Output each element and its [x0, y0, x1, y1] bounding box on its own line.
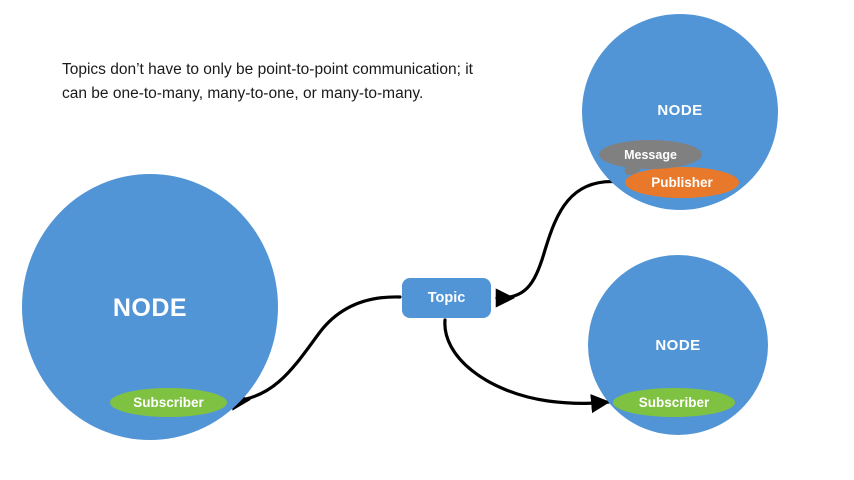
node-left-label: NODE — [22, 294, 278, 323]
slide-canvas: Topics don’t have to only be point-to-po… — [0, 0, 854, 480]
arrow-topic-to-right-subscriber — [445, 320, 609, 403]
publisher-pill[interactable]: Publisher — [625, 167, 739, 198]
node-bottom-right-label: NODE — [588, 337, 768, 354]
node-top-right-label: NODE — [582, 102, 778, 119]
subscriber-pill-left[interactable]: Subscriber — [110, 388, 227, 417]
caption-text: Topics don’t have to only be point-to-po… — [62, 58, 482, 106]
subscriber-pill-right[interactable]: Subscriber — [613, 388, 735, 417]
arrow-publisher-to-topic — [497, 182, 620, 298]
message-pill[interactable]: Message — [599, 140, 702, 169]
topic-box[interactable]: Topic — [402, 278, 491, 318]
